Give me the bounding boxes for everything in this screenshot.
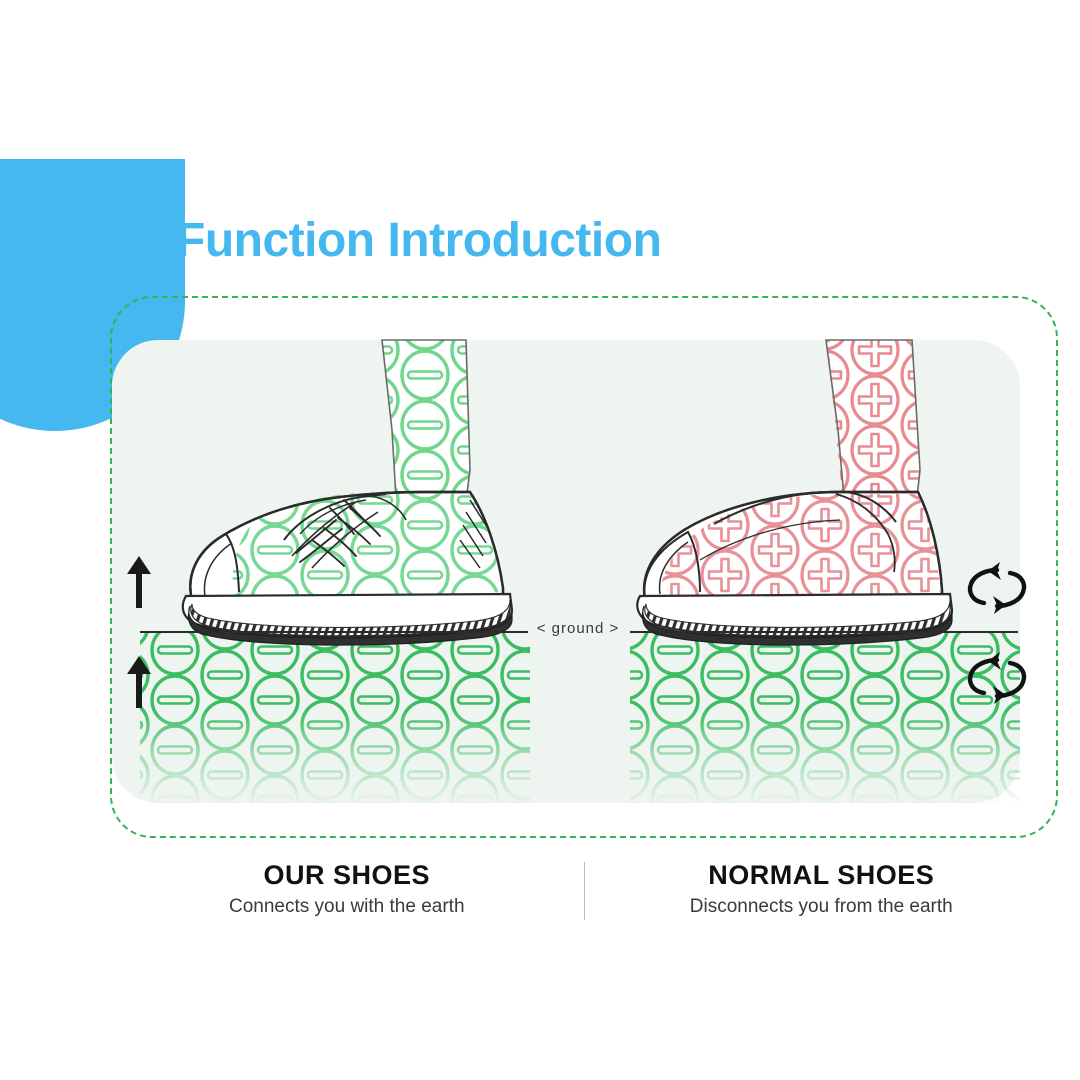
ground-label: < ground > [528,620,628,637]
ground-line-left [140,631,528,633]
caption-normal-shoes: NORMAL SHOES Disconnects you from the ea… [585,858,1059,922]
caption-title: OUR SHOES [110,858,584,892]
page-title: Function Introduction [176,213,661,268]
arrow-up-icon [122,652,156,715]
diagram-stage [112,340,1020,803]
arrow-up-icon [122,552,156,615]
cycle-blocked-icon [966,650,1028,711]
cycle-blocked-icon [966,560,1028,621]
ground-line-right [630,631,1018,633]
caption-subtitle: Connects you with the earth [110,892,584,922]
caption-subtitle: Disconnects you from the earth [585,892,1059,922]
caption-title: NORMAL SHOES [585,858,1059,892]
caption-our-shoes: OUR SHOES Connects you with the earth [110,858,584,922]
captions-row: OUR SHOES Connects you with the earth NO… [110,858,1058,930]
